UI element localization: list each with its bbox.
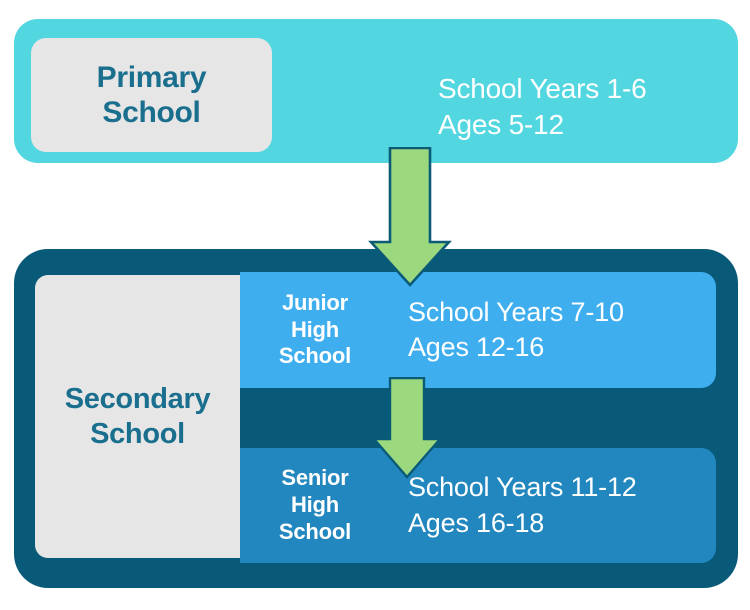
secondary-school-label-box: Secondary School <box>35 275 240 558</box>
down-arrow-icon-primary-to-junior <box>368 147 452 287</box>
junior-high-school-band: Junior High School School Years 7-10 Age… <box>240 272 716 388</box>
senior-high-school-band: Senior High School School Years 11-12 Ag… <box>240 448 716 563</box>
school-system-diagram: School Years 1-6 Ages 5-12 Primary Schoo… <box>0 0 750 610</box>
primary-school-detail-text: School Years 1-6 Ages 5-12 <box>438 71 647 144</box>
senior-high-school-label: Senior High School <box>240 448 390 563</box>
down-arrow-icon-junior-to-senior <box>371 377 443 479</box>
primary-school-label-box: Primary School <box>31 38 272 152</box>
junior-high-school-label: Junior High School <box>240 272 390 388</box>
secondary-school-label: Secondary School <box>65 382 211 452</box>
primary-school-label: Primary School <box>97 60 207 131</box>
junior-high-school-detail-text: School Years 7-10 Ages 12-16 <box>390 272 716 388</box>
